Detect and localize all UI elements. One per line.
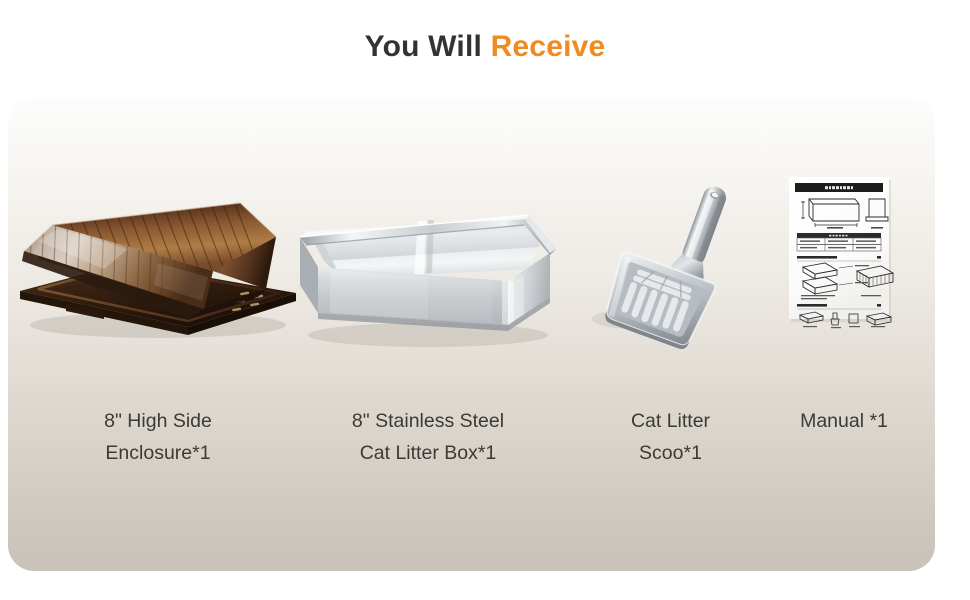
item-enclosure: 8" High Side Enclosure*1 <box>8 97 308 571</box>
page-title-accent: Receive <box>491 30 606 63</box>
manual-header-title-text <box>825 186 853 189</box>
items-row: 8" High Side Enclosure*1 <box>8 97 935 571</box>
caption-enclosure-line1: 8" High Side <box>8 405 308 437</box>
page-title-plain: You Will <box>365 30 491 63</box>
instruction-manual-sheet-image <box>753 173 935 328</box>
caption-enclosure-line2: Enclosure*1 <box>8 437 308 469</box>
caption-manual: Manual *1 <box>753 405 935 437</box>
caption-litter-box-line2: Cat Litter Box*1 <box>278 437 578 469</box>
caption-scoop: Cat Litter Scoo*1 <box>568 405 773 469</box>
item-scoop: Cat Litter Scoo*1 <box>568 97 773 571</box>
item-litter-box: 8" Stainless Steel Cat Litter Box*1 <box>278 97 578 571</box>
page-title: You Will Receive <box>0 30 970 64</box>
caption-litter-box-line1: 8" Stainless Steel <box>278 405 578 437</box>
caption-scoop-line1: Cat Litter <box>568 405 773 437</box>
caption-enclosure: 8" High Side Enclosure*1 <box>8 405 308 469</box>
infographic-root: You Will Receive <box>0 0 970 600</box>
item-manual: Manual *1 <box>753 97 935 571</box>
cat-litter-scoop-image <box>568 167 773 347</box>
stainless-steel-litter-box-image <box>278 207 578 357</box>
caption-manual-line1: Manual *1 <box>753 405 935 437</box>
high-side-enclosure-hood-image <box>8 185 308 345</box>
caption-litter-box: 8" Stainless Steel Cat Litter Box*1 <box>278 405 578 469</box>
caption-scoop-line2: Scoo*1 <box>568 437 773 469</box>
